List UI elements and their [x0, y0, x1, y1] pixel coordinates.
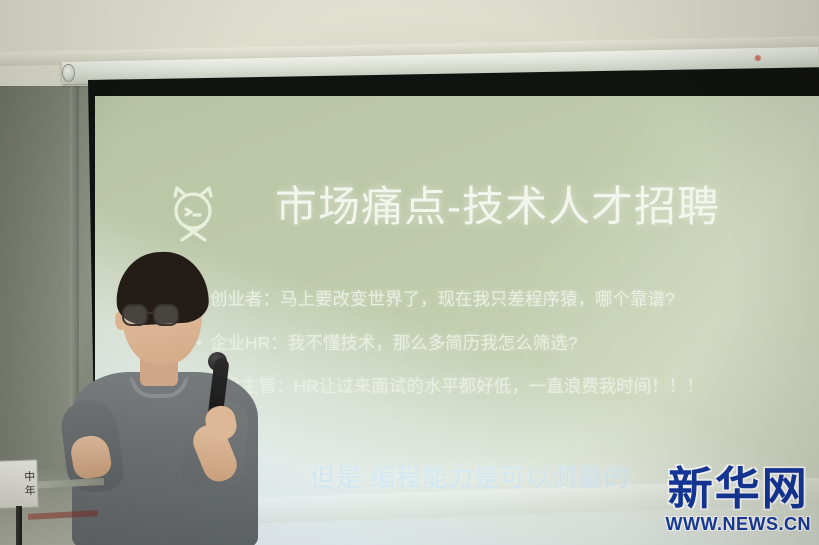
eyeglass-lens-right-icon	[153, 304, 179, 326]
watermark-url: WWW.NEWS.CN	[666, 515, 811, 533]
roller-brand-logo	[755, 52, 797, 63]
photo-canvas: 市场痛点-技术人才招聘 创业者：马上要改变世界了，现在我只差程序猿，哪个靠谱? …	[0, 0, 819, 545]
slide-bullet-item: 创业者：马上要改变世界了，现在我只差程序猿，哪个靠谱?	[197, 288, 807, 312]
slide-title: 市场痛点-技术人才招聘	[275, 186, 720, 228]
slide-bullet-item: 技术主管：HR让过来面试的水平都好低，一直浪费我时间！！！	[197, 375, 807, 399]
slide-bullet-list: 创业者：马上要改变世界了，现在我只差程序猿，哪个靠谱? 企业HR：我不懂技术，那…	[197, 288, 807, 419]
bullet-text: 创业者：马上要改变世界了，现在我只差程序猿，哪个靠谱?	[210, 288, 675, 312]
bullet-text: 技术主管：HR让过来面试的水平都好低，一直浪费我时间！！！	[206, 375, 704, 399]
watermark-brand: 新华网	[666, 466, 811, 511]
terminal-mascot-logo-icon	[167, 184, 219, 244]
roller-end-cap	[62, 64, 75, 82]
brand-dot-icon	[755, 55, 761, 61]
slide-bullet-item: 企业HR：我不懂技术，那么多简历我怎么筛选?	[197, 332, 807, 356]
xinhua-watermark: 新华网 WWW.NEWS.CN	[666, 466, 811, 533]
slide-punchline: 但是 编程能力是可以测量的	[310, 458, 630, 494]
podium-stand	[16, 506, 22, 545]
eyeglass-bridge-icon	[148, 312, 155, 314]
podium-sign: 中 年	[0, 459, 39, 508]
speaker-person	[58, 248, 273, 545]
podium-sign-text: 中 年	[22, 471, 34, 496]
eyeglass-lens-left-icon	[122, 304, 148, 326]
